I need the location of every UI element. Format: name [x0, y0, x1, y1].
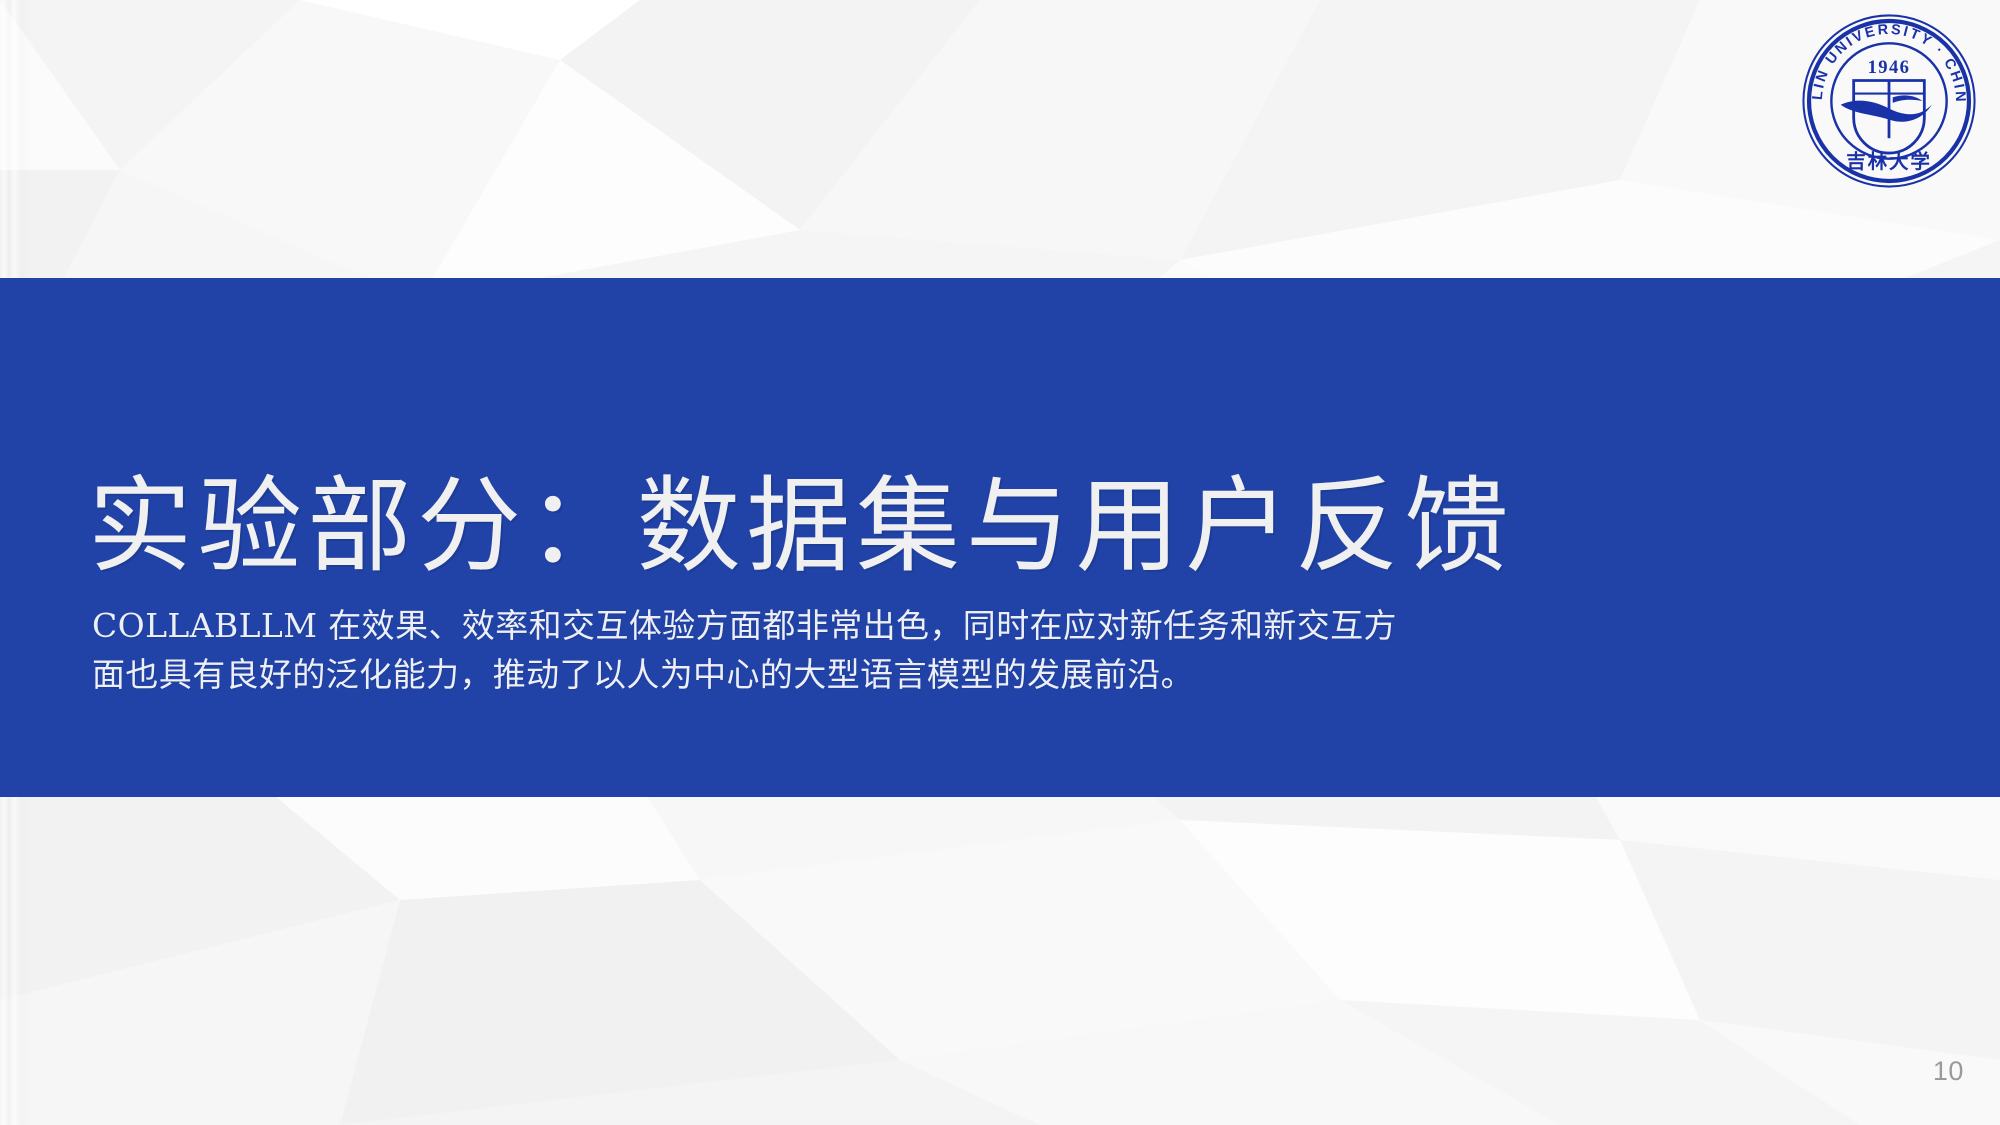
presentation-slide: 实验部分：数据集与用户反馈 COLLABLLM 在效果、效率和交互体验方面都非常…: [0, 0, 2000, 1125]
slide-subtitle: COLLABLLM 在效果、效率和交互体验方面都非常出色，同时在应对新任务和新交…: [92, 601, 1792, 699]
subtitle-line-1: COLLABLLM 在效果、效率和交互体验方面都非常出色，同时在应对新任务和新交…: [92, 601, 1792, 650]
svg-text:吉林大学: 吉林大学: [1846, 150, 1932, 173]
subtitle-line-2: 面也具有良好的泛化能力，推动了以人为中心的大型语言模型的发展前沿。: [92, 650, 1792, 699]
university-logo: JILIN UNIVERSITY · CHINA 1946 吉林大学: [1796, 8, 1982, 194]
page-number: 10: [1933, 1056, 1964, 1087]
page-title: 实验部分：数据集与用户反馈: [88, 468, 1918, 584]
svg-text:1946: 1946: [1868, 57, 1911, 78]
